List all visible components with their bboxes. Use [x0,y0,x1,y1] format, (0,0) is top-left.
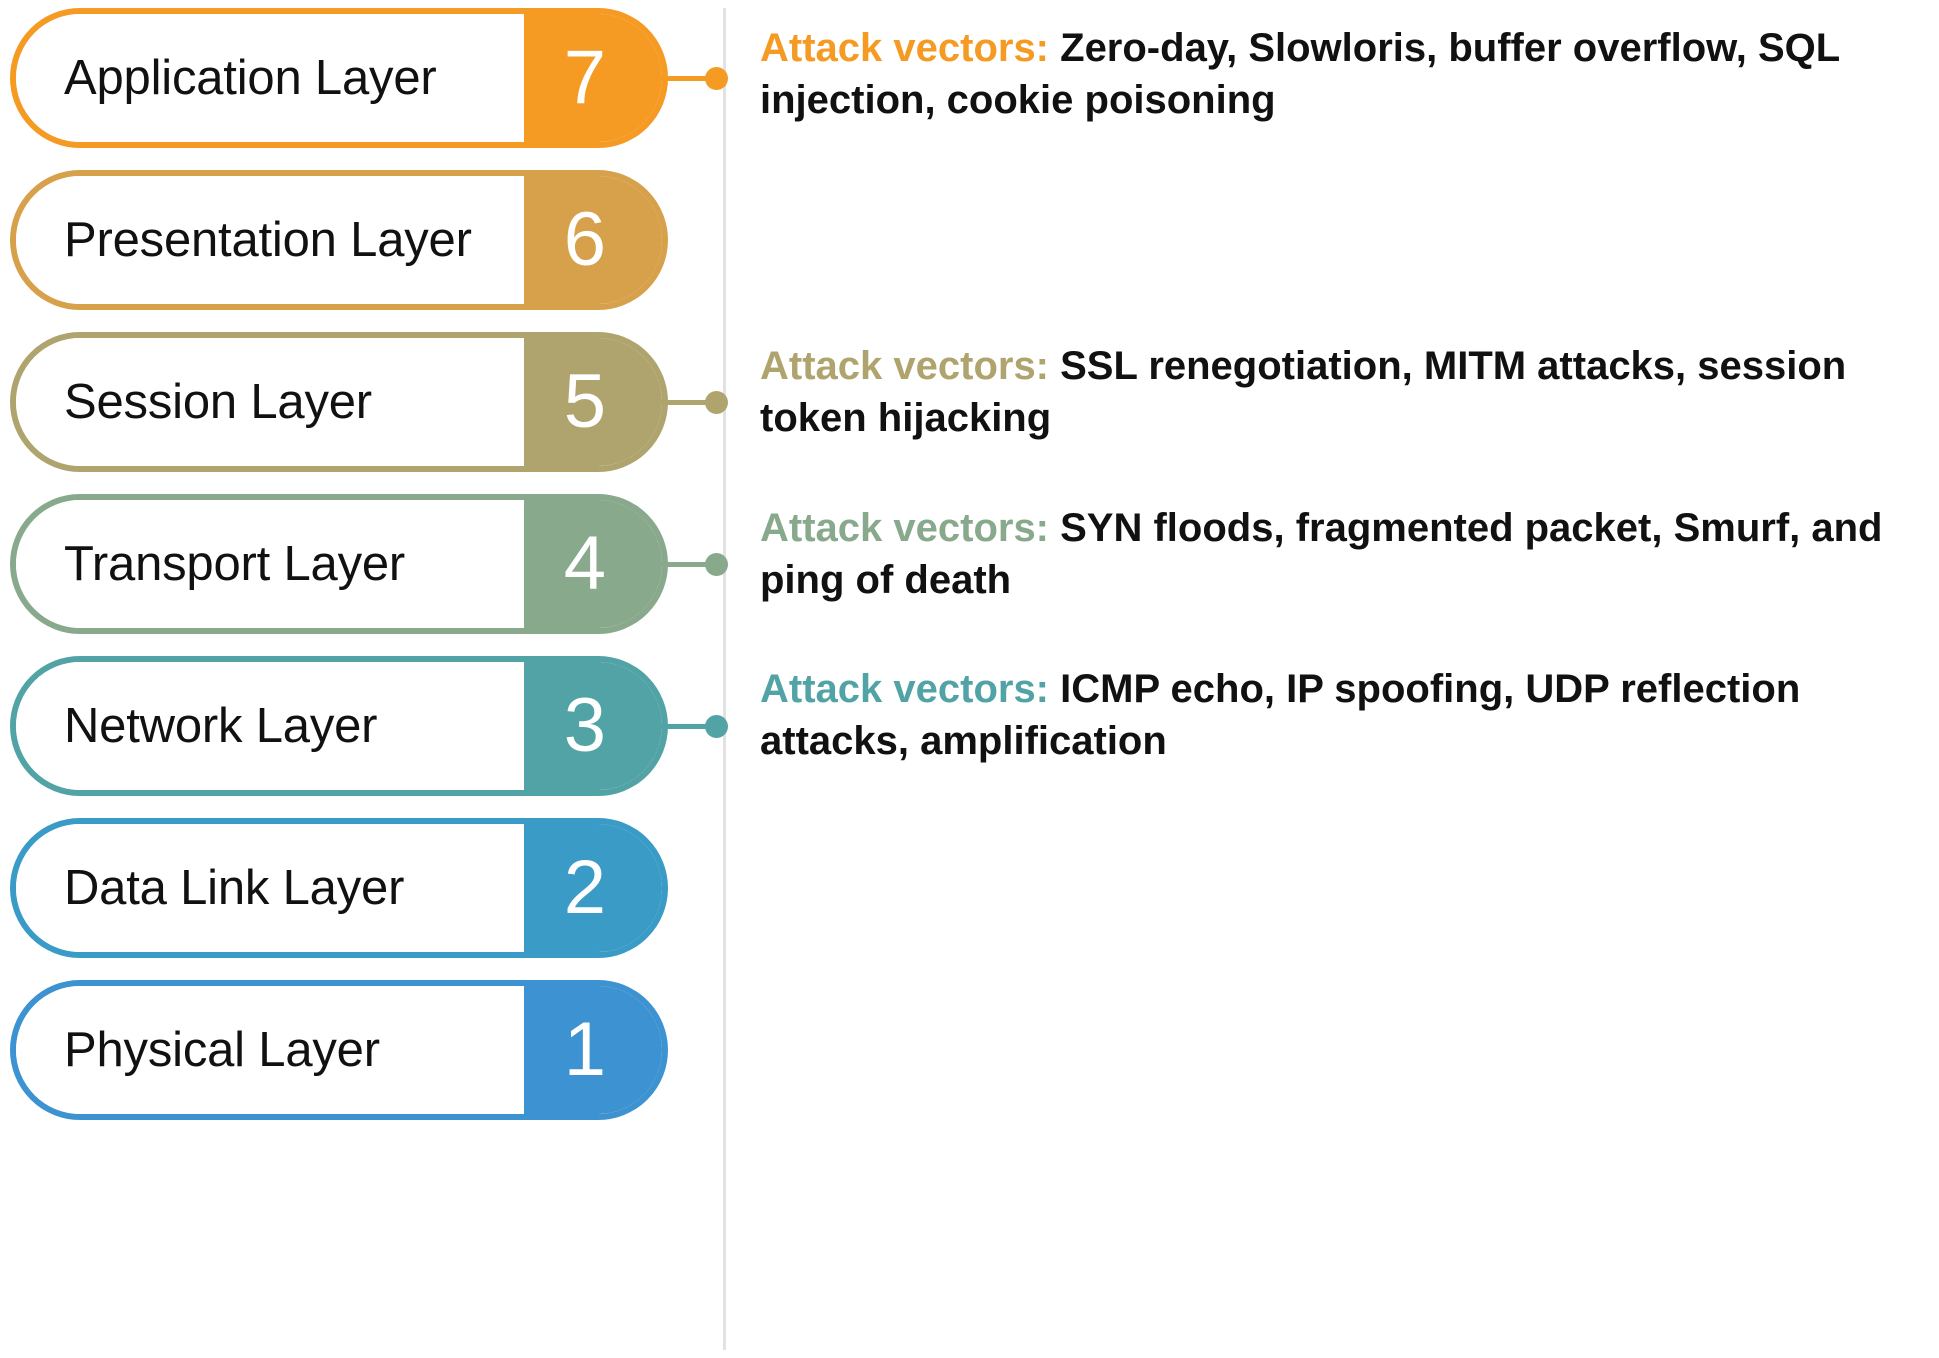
layer-name-area: Presentation Layer [16,176,524,304]
layer-pill-transport-layer[interactable]: Transport Layer4 [10,494,668,634]
layer-pill-session-layer[interactable]: Session Layer5 [10,332,668,472]
layer-name-label: Physical Layer [64,1022,380,1078]
layer-pill-network-layer[interactable]: Network Layer3 [10,656,668,796]
attack-vectors-annotation: Attack vectors: ICMP echo, IP spoofing, … [760,663,1935,767]
pill-inner: Application Layer7 [16,14,662,142]
layer-number-block: 5 [524,338,662,466]
layer-name-label: Network Layer [64,698,377,754]
layer-name-area: Network Layer [16,662,524,790]
pill-inner: Transport Layer4 [16,500,662,628]
layer-name-label: Application Layer [64,50,437,106]
pill-inner: Presentation Layer6 [16,176,662,304]
attack-vectors-annotation: Attack vectors: SYN floods, fragmented p… [760,502,1935,606]
layer-pill-presentation-layer[interactable]: Presentation Layer6 [10,170,668,310]
layer-number-label: 5 [564,364,606,440]
connector-dot-icon [705,715,728,738]
layer-name-area: Session Layer [16,338,524,466]
layer-number-label: 6 [564,202,606,278]
layer-pill-application-layer[interactable]: Application Layer7 [10,8,668,148]
attack-vectors-annotation: Attack vectors: SSL renegotiation, MITM … [760,340,1935,444]
layer-row: Data Link Layer2 [0,818,1939,980]
layer-name-area: Physical Layer [16,986,524,1114]
attack-vectors-label: Attack vectors: [760,26,1049,70]
connector-line [660,562,728,567]
osi-layers-diagram: Application Layer7Presentation Layer6Ses… [0,0,1939,1358]
connector-dot-icon [705,553,728,576]
layer-name-area: Transport Layer [16,500,524,628]
layer-number-label: 4 [564,526,606,602]
pill-inner: Network Layer3 [16,662,662,790]
connector-dot-icon [705,67,728,90]
layer-number-block: 6 [524,176,662,304]
layer-row: Presentation Layer6 [0,170,1939,332]
layer-name-label: Session Layer [64,374,372,430]
attack-vectors-annotation: Attack vectors: Zero-day, Slowloris, buf… [760,22,1935,126]
layer-number-block: 7 [524,14,662,142]
layer-number-block: 2 [524,824,662,952]
layer-row: Physical Layer1 [0,980,1939,1142]
pill-inner: Physical Layer1 [16,986,662,1114]
connector-line [660,76,728,81]
layer-name-label: Presentation Layer [64,212,472,268]
layer-pill-physical-layer[interactable]: Physical Layer1 [10,980,668,1120]
layer-name-label: Transport Layer [64,536,405,592]
layer-number-block: 4 [524,500,662,628]
layer-number-label: 1 [564,1012,606,1088]
layer-number-label: 3 [564,688,606,764]
layer-number-block: 1 [524,986,662,1114]
layer-name-area: Data Link Layer [16,824,524,952]
layer-number-label: 2 [564,850,606,926]
layer-number-block: 3 [524,662,662,790]
layer-name-area: Application Layer [16,14,524,142]
pill-inner: Data Link Layer2 [16,824,662,952]
layer-name-label: Data Link Layer [64,860,404,916]
pill-inner: Session Layer5 [16,338,662,466]
attack-vectors-label: Attack vectors: [760,344,1049,388]
connector-line [660,400,728,405]
attack-vectors-label: Attack vectors: [760,667,1049,711]
connector-line [660,724,728,729]
connector-dot-icon [705,391,728,414]
attack-vectors-label: Attack vectors: [760,506,1049,550]
layer-pill-data-link-layer[interactable]: Data Link Layer2 [10,818,668,958]
layer-number-label: 7 [564,40,606,116]
